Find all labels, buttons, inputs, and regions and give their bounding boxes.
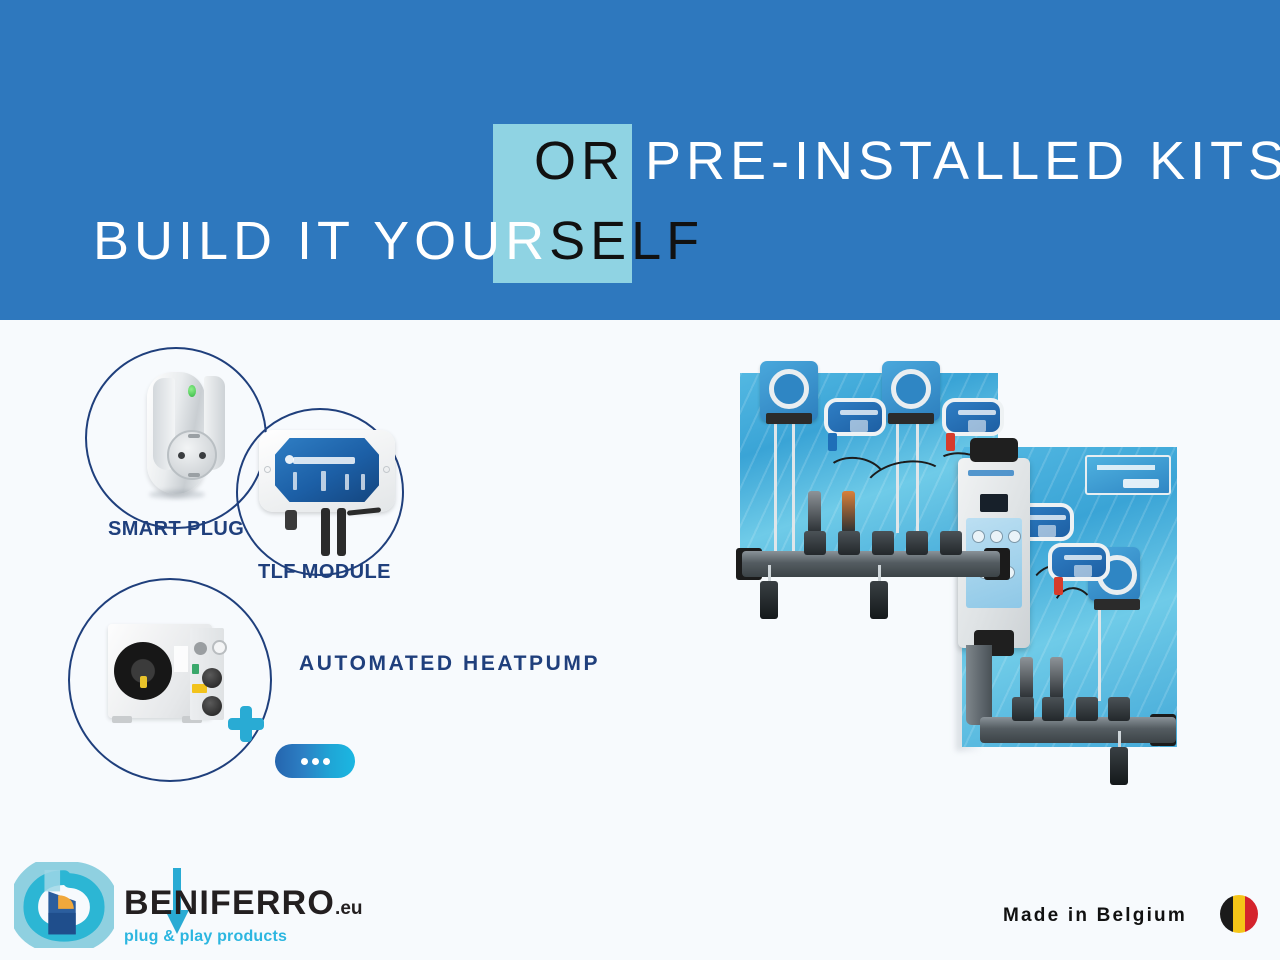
brand-tagline: plug & play products xyxy=(124,928,363,946)
headline-top-highlighted: OR xyxy=(534,131,625,191)
plug-led-indicator xyxy=(188,385,196,397)
probe-module xyxy=(1048,543,1110,581)
ellipsis-dot xyxy=(301,758,308,765)
tlf-module-label: TLF MODULE xyxy=(258,561,391,584)
dosing-pump xyxy=(882,361,940,421)
heatpump-photo xyxy=(108,624,235,730)
beniferro-logo-mark xyxy=(14,858,114,954)
ellipsis-dot xyxy=(312,758,319,765)
probe-module xyxy=(824,398,886,436)
dosing-pump xyxy=(760,361,818,421)
display-panel xyxy=(1085,455,1171,495)
tlf-module-photo xyxy=(259,430,395,558)
manifold-pipe xyxy=(742,551,1000,577)
heatpump-label: AUTOMATED HEATPUMP xyxy=(299,651,600,676)
ellipsis-dot xyxy=(323,758,330,765)
pre-installed-kit-photo xyxy=(730,365,1200,785)
headline-top: OR PRE-INSTALLED KITS xyxy=(534,134,1280,188)
made-in-belgium-label: Made in Belgium xyxy=(1003,905,1187,927)
headline-bottom-highlighted: SELF xyxy=(549,211,704,271)
brand-name: BENIFERRO xyxy=(124,884,335,922)
probe-module xyxy=(942,398,1004,436)
belgium-flag-icon xyxy=(1220,895,1258,933)
headline-bottom: BUILD IT YOURSELF xyxy=(93,214,704,268)
headline-bottom-rest: BUILD IT YOUR xyxy=(93,211,549,271)
brand-wordmark: BENIFERRO.eu plug & play products xyxy=(124,886,363,946)
plus-icon xyxy=(228,706,264,742)
smart-plug-label: SMART PLUG xyxy=(108,518,244,541)
brand-tld: .eu xyxy=(335,898,362,919)
headline-top-rest: PRE-INSTALLED KITS xyxy=(625,131,1280,191)
ellipsis-button[interactable] xyxy=(275,744,355,778)
smart-plug-photo xyxy=(133,372,219,502)
header-banner: OR PRE-INSTALLED KITS BUILD IT YOURSELF xyxy=(0,0,1280,320)
